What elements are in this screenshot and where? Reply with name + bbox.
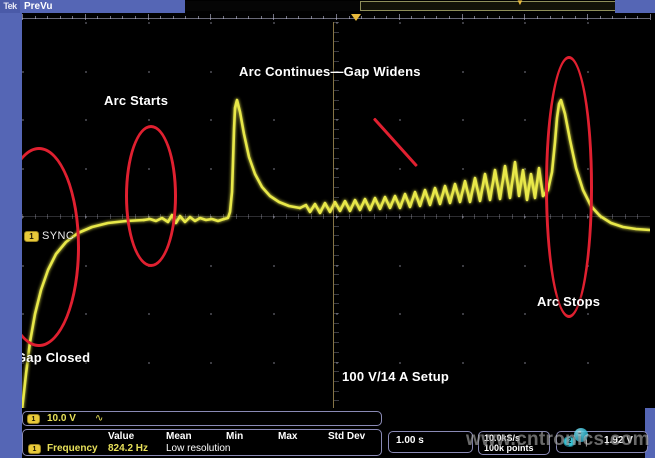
coupling-icon: ∿ [95, 413, 103, 424]
annotation-arc-stops: Arc Stops [537, 294, 600, 309]
ruler-tick [349, 16, 350, 19]
ruler-tick [550, 16, 551, 19]
ruler-tick [47, 16, 48, 19]
measurement-row-value: 824.2 Hz [108, 443, 148, 454]
oscilloscope-screen: Tek PreVu ▼ [0, 0, 655, 458]
ruler-tick [562, 16, 563, 19]
highlight-ellipse-arc-starts [125, 125, 177, 267]
ruler-tick [110, 16, 111, 19]
measurement-row-label: Frequency [47, 443, 98, 454]
annotation-setup: 100 V/14 A Setup [342, 369, 449, 384]
ruler-tick [248, 16, 249, 19]
measurement-header-max: Max [278, 431, 297, 442]
trigger-level-value: 1.92 V [604, 435, 633, 446]
ruler-tick [424, 16, 425, 19]
tek-logo: Tek [0, 0, 20, 13]
ruler-tick [173, 16, 174, 19]
ruler-tick [35, 16, 36, 19]
record-view-window[interactable] [360, 1, 655, 11]
horizontal-scale-value: 1.00 s [396, 435, 424, 446]
acquisition-state-label: PreVu [20, 0, 185, 13]
ruler-tick [22, 14, 23, 20]
ruler-tick [198, 16, 199, 19]
ruler-tick [236, 16, 237, 19]
record-view-bar[interactable]: ▼ [185, 0, 615, 13]
ruler-tick [537, 16, 538, 19]
waveform-graticule[interactable]: 1 SYNC Gap Closed Arc Starts Arc Continu… [22, 22, 650, 410]
record-view-trigger-marker: ▼ [516, 0, 523, 6]
vertical-channel-chip: 1 [27, 414, 40, 424]
ruler-tick [85, 14, 86, 20]
ruler-tick [575, 16, 576, 19]
ruler-tick [474, 16, 475, 19]
annotation-arc-continues: Arc Continues—Gap Widens [239, 64, 421, 79]
ruler-tick [273, 14, 274, 20]
ruler-tick [72, 16, 73, 19]
highlight-ellipse-arc-stops [545, 56, 593, 318]
ruler-tick [323, 16, 324, 19]
measurement-row-note: Low resolution [166, 443, 230, 454]
ruler-tick [462, 14, 463, 20]
ruler-tick [261, 16, 262, 19]
ruler-tick [600, 16, 601, 19]
sample-rate-value: 10.0kS/s [484, 433, 520, 443]
channel1-ground-marker[interactable]: 1 [24, 231, 39, 242]
ruler-tick [97, 16, 98, 19]
ruler-tick [336, 14, 337, 20]
bottom-left-rail [0, 408, 22, 458]
left-bezel-rail [0, 13, 22, 408]
ruler-tick [637, 16, 638, 19]
ruler-tick [436, 16, 437, 19]
ruler-tick [449, 16, 450, 19]
measurement-table[interactable]: Value Mean Min Max Std Dev 1 Frequency 8… [22, 429, 382, 456]
ruler-tick [612, 16, 613, 19]
ruler-tick [374, 16, 375, 19]
acquisition-readout[interactable]: 10.0kS/s 100k points [478, 431, 550, 455]
measurement-header-mean: Mean [166, 431, 192, 442]
ruler-tick [148, 14, 149, 20]
ruler-tick [60, 16, 61, 19]
ruler-tick [298, 16, 299, 19]
trigger-drop-line [333, 22, 334, 410]
annotation-gap-closed: Gap Closed [22, 350, 90, 365]
ruler-tick [487, 16, 488, 19]
trigger-readout[interactable]: 2 ⌠ 1.92 V [556, 431, 648, 453]
ruler-tick [160, 16, 161, 19]
record-length-value: 100k points [484, 443, 534, 453]
measurement-header-min: Min [226, 431, 243, 442]
ruler-tick [185, 16, 186, 19]
ruler-tick [135, 16, 136, 19]
title-bar: Tek PreVu ▼ [0, 0, 655, 13]
measurement-header-stddev: Std Dev [328, 431, 365, 442]
ruler-tick [223, 16, 224, 19]
ruler-tick [411, 16, 412, 19]
measurement-header-value: Value [108, 431, 134, 442]
ruler-tick [650, 14, 651, 20]
ruler-tick [625, 16, 626, 19]
vertical-scale-readout[interactable]: 1 10.0 V ∿ [22, 411, 382, 426]
annotation-arc-starts: Arc Starts [104, 93, 168, 108]
ruler-tick [210, 14, 211, 20]
measurement-row-channel-chip: 1 [28, 444, 41, 454]
readout-area: 1 10.0 V ∿ Value Mean Min Max Std Dev 1 … [0, 408, 655, 458]
ruler-tick [399, 14, 400, 20]
horizontal-scale-readout[interactable]: 1.00 s [388, 431, 473, 453]
ruler-tick [499, 16, 500, 19]
channel1-sync-label: SYNC [42, 230, 74, 242]
ruler-tick [361, 16, 362, 19]
vertical-scale-value: 10.0 V [47, 413, 76, 424]
ruler-tick [286, 16, 287, 19]
title-bar-right-filler [615, 0, 655, 13]
watermark-globe-icon [574, 428, 588, 442]
trigger-position-marker[interactable] [351, 14, 361, 21]
ruler-tick [524, 14, 525, 20]
ruler-tick [311, 16, 312, 19]
ruler-tick [512, 16, 513, 19]
graticule-ruler [22, 14, 650, 22]
ruler-tick [587, 14, 588, 20]
ruler-tick [386, 16, 387, 19]
ruler-tick [122, 16, 123, 19]
